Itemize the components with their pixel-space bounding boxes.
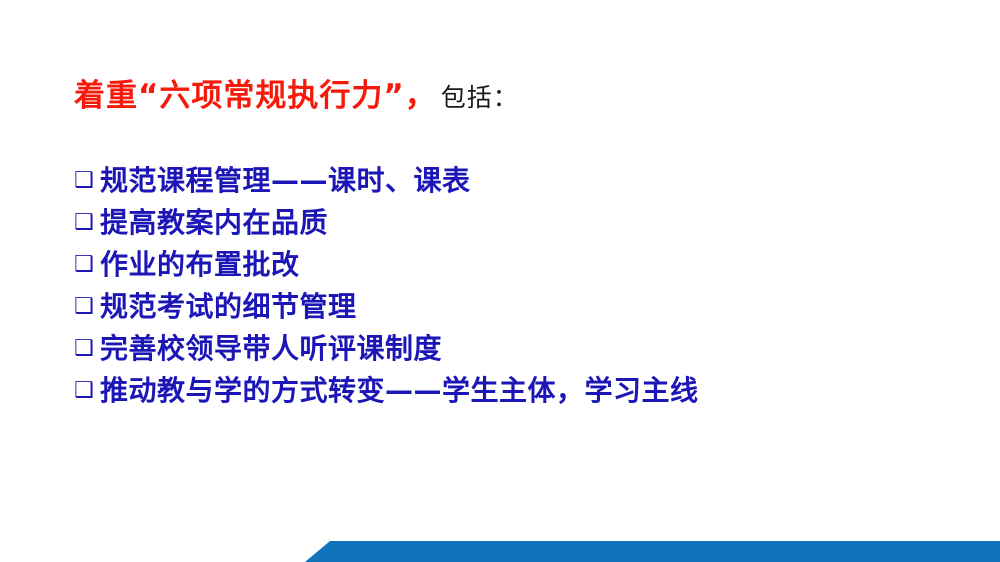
list-item-label: 完善校领导带人听评课制度 (100, 331, 442, 367)
parallelogram-shape-icon (300, 538, 1000, 562)
square-bullet-icon: ❑ (74, 289, 100, 325)
slide-canvas: 着重“六项常规执行力”，包括： ❑ 规范课程管理——课时、课表 ❑ 提高教案内在… (0, 0, 1000, 562)
square-bullet-icon: ❑ (74, 331, 100, 367)
bullet-list: ❑ 规范课程管理——课时、课表 ❑ 提高教案内在品质 ❑ 作业的布置批改 ❑ 规… (74, 163, 954, 415)
list-item: ❑ 完善校领导带人听评课制度 (74, 331, 954, 373)
list-item: ❑ 规范课程管理——课时、课表 (74, 163, 954, 205)
list-item-label: 推动教与学的方式转变——学生主体，学习主线 (100, 373, 699, 409)
square-bullet-icon: ❑ (74, 205, 100, 241)
list-item: ❑ 推动教与学的方式转变——学生主体，学习主线 (74, 373, 954, 415)
bottom-decoration-bar (300, 538, 1000, 562)
square-bullet-icon: ❑ (74, 373, 100, 409)
square-bullet-icon: ❑ (74, 247, 100, 283)
list-item-label: 规范考试的细节管理 (100, 289, 357, 325)
list-item-label: 作业的布置批改 (100, 247, 300, 283)
title-emphasis-text: 着重“六项常规执行力”， (74, 78, 437, 114)
list-item: ❑ 提高教案内在品质 (74, 205, 954, 247)
list-item-label: 提高教案内在品质 (100, 205, 328, 241)
square-bullet-icon: ❑ (74, 163, 100, 199)
list-item: ❑ 作业的布置批改 (74, 247, 954, 289)
list-item-label: 规范课程管理——课时、课表 (100, 163, 471, 199)
list-item: ❑ 规范考试的细节管理 (74, 289, 954, 331)
title-suffix-text: 包括： (437, 83, 519, 112)
slide-content-area: 着重“六项常规执行力”，包括： ❑ 规范课程管理——课时、课表 ❑ 提高教案内在… (0, 0, 1000, 562)
page-title: 着重“六项常规执行力”，包括： (74, 78, 519, 115)
